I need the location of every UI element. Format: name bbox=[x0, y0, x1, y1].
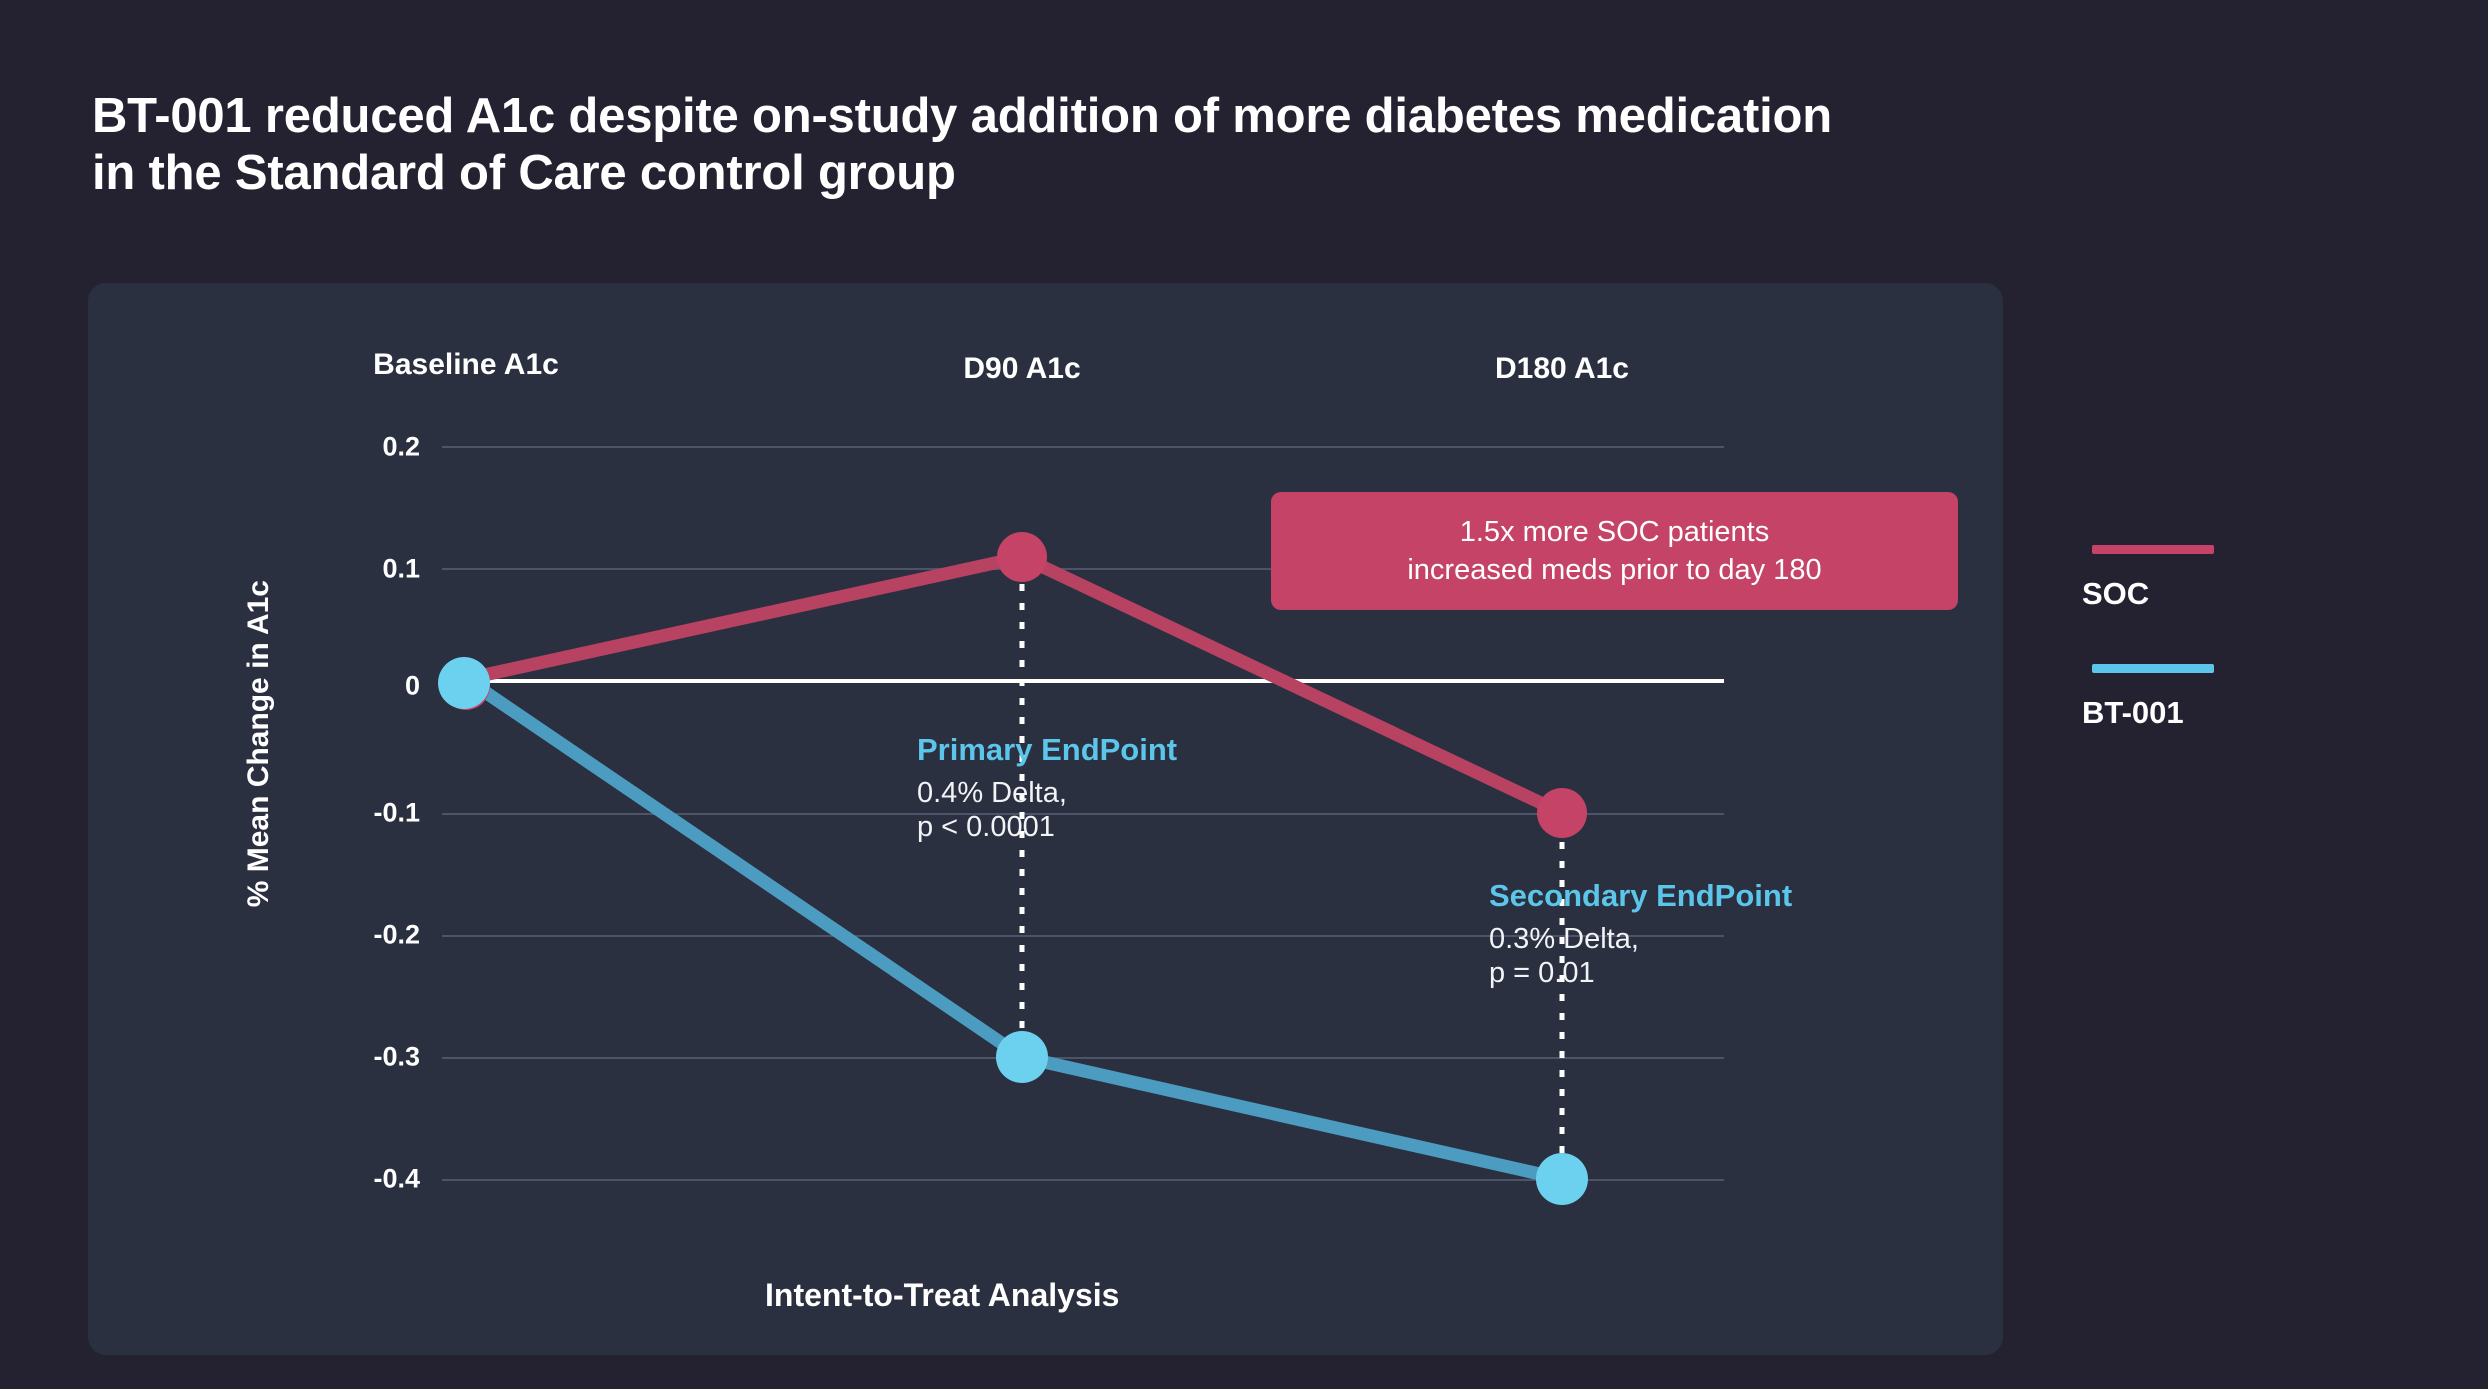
callout-line-2: increased meds prior to day 180 bbox=[1407, 551, 1821, 589]
annotation-secondary-title: Secondary EndPoint bbox=[1489, 878, 1792, 914]
x-axis-caption: Intent-to-Treat Analysis bbox=[765, 1277, 1119, 1314]
chart-legend: SOC BT-001 bbox=[2082, 545, 2382, 783]
annotation-secondary-line-1: 0.3% Delta, bbox=[1489, 922, 1792, 956]
legend-item-bt001[interactable]: BT-001 bbox=[2082, 664, 2382, 731]
annotation-secondary-endpoint: Secondary EndPoint 0.3% Delta, p = 0.01 bbox=[1489, 878, 1792, 990]
y-tick-label-2: 0 bbox=[280, 671, 420, 702]
slide-root: BT-001 reduced A1c despite on-study addi… bbox=[0, 0, 2488, 1389]
gridline-0_2 bbox=[442, 446, 1724, 448]
annotation-primary-line-2: p < 0.0001 bbox=[917, 810, 1177, 844]
marker-soc-d90 bbox=[997, 532, 1047, 582]
y-tick-label-6: -0.4 bbox=[280, 1164, 420, 1195]
gridline-zero bbox=[442, 679, 1724, 683]
category-label-d90: D90 A1c bbox=[963, 352, 1080, 386]
callout-line-1: 1.5x more SOC patients bbox=[1460, 513, 1769, 551]
gridline-neg0_4 bbox=[442, 1179, 1724, 1181]
legend-label-bt001: BT-001 bbox=[2082, 695, 2382, 731]
legend-swatch-bt001-icon bbox=[2092, 664, 2214, 673]
y-tick-label-1: 0.1 bbox=[280, 554, 420, 585]
legend-item-soc[interactable]: SOC bbox=[2082, 545, 2382, 612]
y-tick-label-0: 0.2 bbox=[280, 432, 420, 463]
y-tick-label-5: -0.3 bbox=[280, 1042, 420, 1073]
category-label-d180: D180 A1c bbox=[1495, 352, 1629, 386]
marker-soc-baseline bbox=[442, 662, 490, 710]
legend-swatch-soc-icon bbox=[2092, 545, 2214, 554]
y-tick-label-3: -0.1 bbox=[280, 798, 420, 829]
annotation-primary-endpoint: Primary EndPoint 0.4% Delta, p < 0.0001 bbox=[917, 732, 1177, 844]
y-tick-label-4: -0.2 bbox=[280, 920, 420, 951]
annotation-primary-line-1: 0.4% Delta, bbox=[917, 776, 1177, 810]
annotation-secondary-line-2: p = 0.01 bbox=[1489, 956, 1792, 990]
y-axis-title: % Mean Change in A1c bbox=[242, 580, 282, 907]
legend-label-soc: SOC bbox=[2082, 576, 2382, 612]
marker-bt001-baseline bbox=[438, 657, 490, 709]
annotation-primary-title: Primary EndPoint bbox=[917, 732, 1177, 768]
gridline-neg0_3 bbox=[442, 1057, 1724, 1059]
category-label-baseline: Baseline A1c bbox=[373, 348, 559, 382]
callout-box: 1.5x more SOC patients increased meds pr… bbox=[1271, 492, 1958, 610]
